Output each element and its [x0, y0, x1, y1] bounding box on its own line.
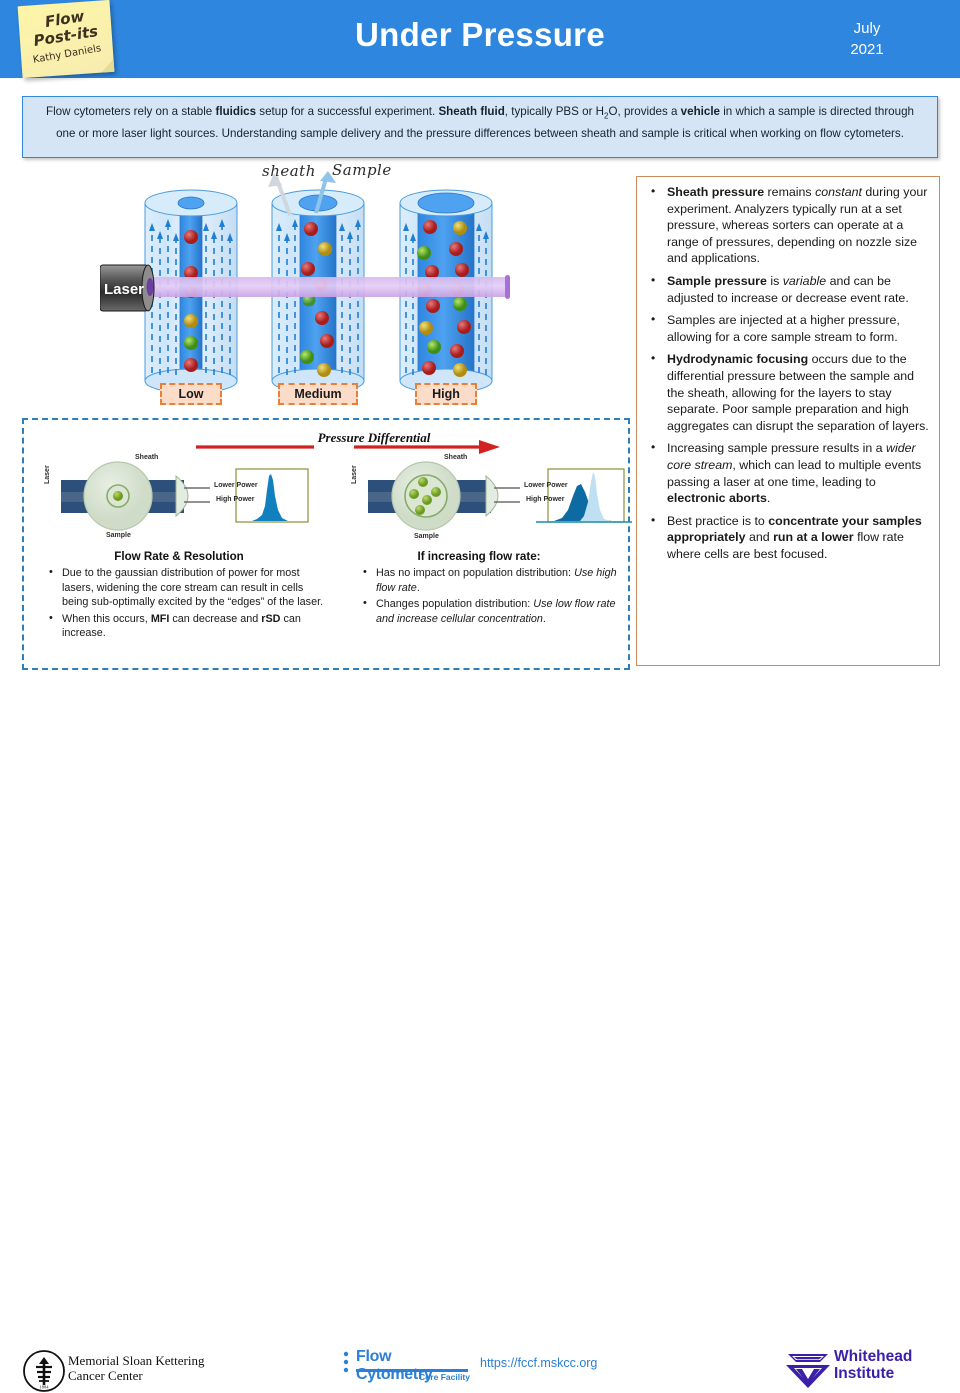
flow-rate-panel: Pressure Differential — [22, 418, 630, 670]
left-subheading: Flow Rate & Resolution — [34, 550, 324, 563]
beam-endcap-icon — [505, 275, 510, 299]
fcf-subtitle: Core Facility — [342, 1372, 470, 1382]
whitehead-line2: Institute — [834, 1365, 912, 1382]
right-high-power-label: High Power — [526, 496, 565, 503]
postit-note: Flow Post-its Kathy Daniels — [18, 0, 115, 78]
increasing-flow-item: Has no impact on population distribution… — [376, 566, 626, 595]
left-laser-label: Laser — [44, 444, 51, 484]
flow-rate-item: Due to the gaussian distribution of powe… — [62, 566, 330, 610]
page-footer: 1884 Memorial Sloan Kettering Cancer Cen… — [0, 672, 960, 720]
whitehead-line1: Whitehead — [834, 1348, 912, 1365]
msk-wordmark: Memorial Sloan Kettering Cancer Center — [68, 1353, 204, 1383]
page-header: Under Pressure July 2021 Flow Post-its K… — [0, 0, 960, 78]
right-bullet-list: Has no impact on population distribution… — [376, 566, 626, 628]
key-point-item: Best practice is to concentrate your sam… — [667, 513, 929, 563]
msk-line2: Cancer Center — [68, 1368, 204, 1383]
key-points-list: Sheath pressure remains constant during … — [641, 184, 929, 562]
key-point-item: Hydrodynamic focusing occurs due to the … — [667, 351, 929, 434]
right-laser-label: Laser — [351, 444, 358, 484]
right-stream-diagram — [368, 462, 632, 530]
right-lower-power-label: Lower Power — [524, 482, 568, 489]
right-sample-label: Sample — [414, 533, 439, 540]
right-subheading: If increasing flow rate: — [334, 550, 624, 563]
sample-label: Sample — [332, 161, 392, 179]
increasing-flow-item: Changes population distribution: Use low… — [376, 597, 626, 626]
badge-medium: Medium — [278, 383, 358, 405]
right-gaussian-lens — [486, 476, 498, 516]
laser-label-text: Laser — [104, 281, 144, 298]
cylinder-svg: Laser — [100, 165, 530, 415]
key-point-item: Samples are injected at a higher pressur… — [667, 312, 929, 345]
badge-low: Low — [160, 383, 222, 405]
key-point-item: Sheath pressure remains constant during … — [667, 184, 929, 267]
page-title: Under Pressure — [0, 16, 960, 54]
svg-text:1884: 1884 — [39, 1385, 49, 1390]
whitehead-wordmark: Whitehead Institute — [834, 1348, 912, 1382]
key-points-panel: Sheath pressure remains constant during … — [636, 176, 940, 666]
key-point-item: Sample pressure is variable and can be a… — [667, 273, 929, 306]
left-bullet-list: Due to the gaussian distribution of powe… — [62, 566, 330, 643]
fcf-url-link[interactable]: https://fccf.mskcc.org — [480, 1356, 597, 1370]
right-sheath-label: Sheath — [444, 454, 467, 461]
left-cell — [113, 491, 123, 501]
whitehead-logo-icon — [782, 1348, 834, 1390]
intro-box: Flow cytometers rely on a stable fluidic… — [22, 96, 938, 158]
laser-source: Laser — [100, 265, 154, 311]
arrow-head-icon — [479, 440, 500, 454]
left-sample-label: Sample — [106, 532, 131, 539]
laser-beam — [125, 277, 508, 297]
key-point-item: Increasing sample pressure results in a … — [667, 440, 929, 506]
left-sheath-label: Sheath — [135, 454, 158, 461]
badge-high: High — [415, 383, 477, 405]
left-stream-diagram — [61, 462, 308, 530]
flow-rate-item: When this occurs, MFI can decrease and r… — [62, 612, 330, 641]
msk-logo-icon: 1884 — [22, 1349, 66, 1393]
postit-fold-icon — [101, 59, 115, 73]
intro-text: Flow cytometers rely on a stable fluidic… — [37, 103, 923, 142]
issue-date: July 2021 — [822, 18, 912, 60]
left-high-power-label: High Power — [216, 496, 255, 503]
pressure-cylinder-diagram: Laser sheath Sample Low Medium High — [100, 165, 530, 415]
left-lower-power-label: Lower Power — [214, 482, 258, 489]
sheath-label: sheath — [262, 162, 316, 180]
msk-line1: Memorial Sloan Kettering — [68, 1353, 204, 1368]
issue-year: 2021 — [822, 39, 912, 60]
left-gaussian-lens — [176, 476, 188, 516]
flow-cytometry-logo: Flow Cytometry Core Facility — [342, 1348, 470, 1382]
issue-month: July — [822, 18, 912, 39]
